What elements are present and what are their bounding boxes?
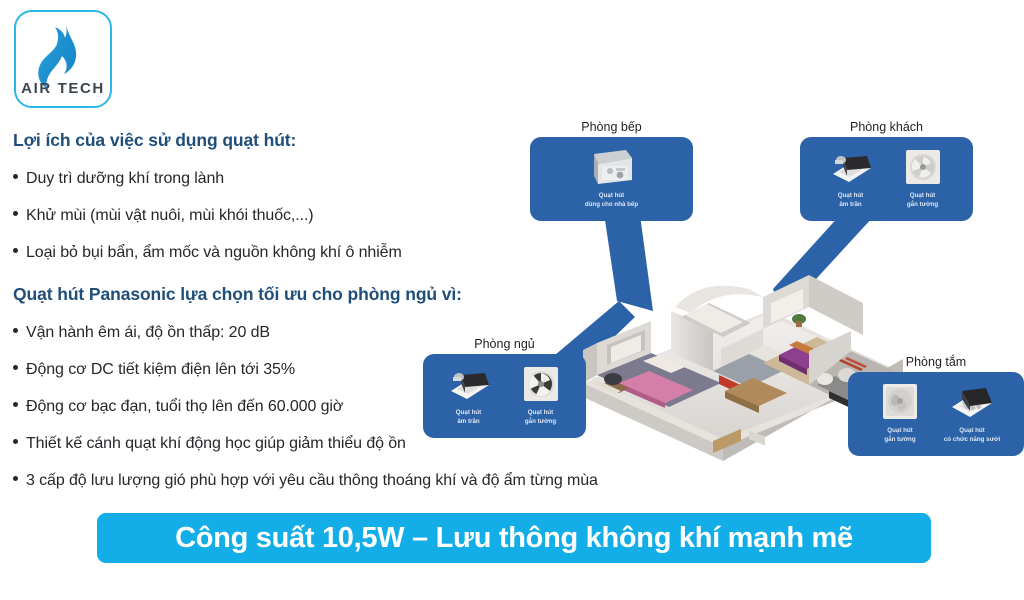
power-banner-text: Công suất 10,5W – Lưu thông không khí mạ… [175,522,853,555]
callout-kitchen[interactable]: Phòng bếp Quạt hút dùng cho nhà bếp [530,120,693,221]
ceiling-heater-fan-icon [948,381,996,423]
list-item-label: Thiết kế cánh quạt khí động học giúp giả… [26,435,406,453]
list-item-label: Vận hành êm ái, độ ồn thấp: 20 dB [26,324,270,342]
wall-vent-panel-icon [588,146,636,188]
illustration-area: Phòng bếp Quạt hút dùng cho nhà bếp [405,115,1024,495]
callout-title: Phòng khách [800,120,973,134]
wall-fan-grille-icon [517,363,565,405]
product-bedroom-wall-fan[interactable]: Quạt hút gắn tường [510,363,572,427]
callout-body: Quạt hút âm trần Quạt h [423,354,586,438]
callout-title: Phòng ngủ [423,337,586,351]
product-bathroom-heater-fan[interactable]: Quạt hút có chức năng sưởi [941,381,1003,445]
product-caption: Quạt hút có chức năng sưởi [941,427,1003,445]
bullet-dot-icon [13,174,18,179]
bullet-dot-icon [13,402,18,407]
bullet-dot-icon [13,439,18,444]
callout-bedroom[interactable]: Phòng ngủ Quạt hút âm trần [423,337,586,438]
logo-wordmark: AIR TECH [16,80,110,97]
product-bathroom-wall-fan[interactable]: Quạt hút gắn tường [869,381,931,445]
product-caption: Quạt hút gắn tường [869,427,931,445]
callout-body: Quạt hút dùng cho nhà bếp [530,137,693,221]
ceiling-fan-unit-icon [445,363,493,405]
product-caption: Quạt hút gắn tường [510,409,572,427]
product-bedroom-ceiling-fan[interactable]: Quạt hút âm trần [438,363,500,427]
callout-title: Phòng bếp [530,120,693,134]
bullet-dot-icon [13,328,18,333]
list-item-label: Duy trì dưỡng khí trong lành [26,170,224,188]
callout-body: Quạt hút gắn tường Quạt [848,372,1024,456]
product-caption: Quạt hút âm trần [438,409,500,427]
product-caption: Quạt hút dùng cho nhà bếp [581,192,643,210]
power-banner: Công suất 10,5W – Lưu thông không khí mạ… [97,513,931,563]
callout-title: Phòng tắm [848,355,1024,369]
bullet-dot-icon [13,365,18,370]
product-kitchen-vent[interactable]: Quạt hút dùng cho nhà bếp [581,146,643,210]
bullet-dot-icon [13,248,18,253]
callout-living-room[interactable]: Phòng khách Quạt hút âm trần [800,120,973,221]
list-item-label: Loại bỏ bụi bẩn, ẩm mốc và nguồn không k… [26,244,402,262]
product-living-wall-fan[interactable]: Quạt hút gắn tường [892,146,954,210]
list-item-label: Động cơ bạc đạn, tuổi thọ lên đến 60.000… [26,398,343,416]
bullet-dot-icon [13,211,18,216]
wall-fan-grille-icon [876,381,924,423]
wall-fan-grille-icon [899,146,947,188]
ceiling-fan-unit-icon [827,146,875,188]
product-living-ceiling-fan[interactable]: Quạt hút âm trần [820,146,882,210]
callout-body: Quạt hút âm trần Quạt h [800,137,973,221]
product-caption: Quạt hút âm trần [820,192,882,210]
list-item-label: Động cơ DC tiết kiệm điện lên tới 35% [26,361,295,379]
brand-logo: AIR TECH [14,10,112,108]
list-item-label: Khử mùi (mùi vật nuôi, mùi khói thuốc,..… [26,207,314,225]
product-caption: Quạt hút gắn tường [892,192,954,210]
callout-bathroom[interactable]: Phòng tắm Quạt hút gắn tường [848,355,1024,456]
infographic-page: AIR TECH Lợi ích của việc sử dụng quạt h… [0,0,1024,600]
bullet-dot-icon [13,476,18,481]
